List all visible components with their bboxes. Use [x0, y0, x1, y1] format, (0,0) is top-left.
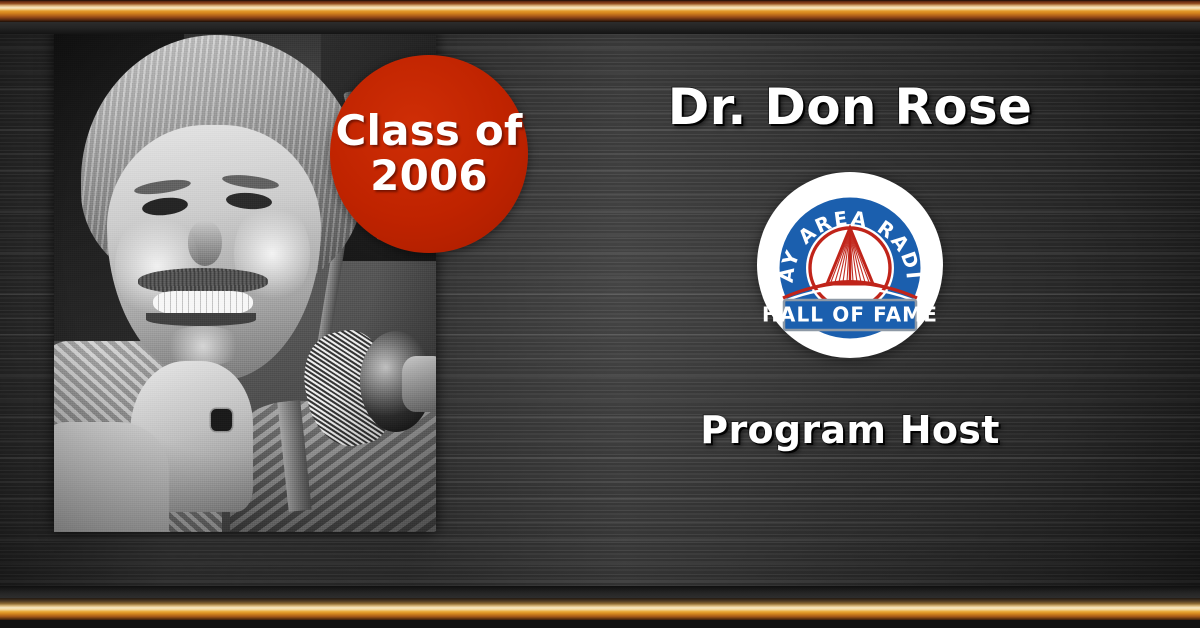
class-badge-line1: Class of: [336, 109, 523, 154]
bottom-gold-border: [0, 598, 1200, 620]
page-title: Dr. Don Rose: [668, 78, 1032, 136]
class-badge-line2: 2006: [370, 154, 488, 199]
bay-area-radio-hall-of-fame-logo: BAY AREA RADIO: [757, 172, 943, 358]
bottom-dark-rail: [0, 586, 1200, 598]
logo-banner: HALL OF FAME: [762, 300, 938, 330]
inductee-details: Dr. Don Rose BAY AREA RADIO: [520, 30, 1180, 596]
top-gold-border: [0, 0, 1200, 22]
hall-of-fame-inductee-card: Class of 2006 Dr. Don Rose BAY AREA RADI…: [0, 0, 1200, 628]
inductee-role: Program Host: [700, 408, 999, 452]
logo-banner-text: HALL OF FAME: [762, 303, 938, 327]
top-dark-rail: [0, 22, 1200, 34]
class-year-badge: Class of 2006: [330, 55, 528, 253]
